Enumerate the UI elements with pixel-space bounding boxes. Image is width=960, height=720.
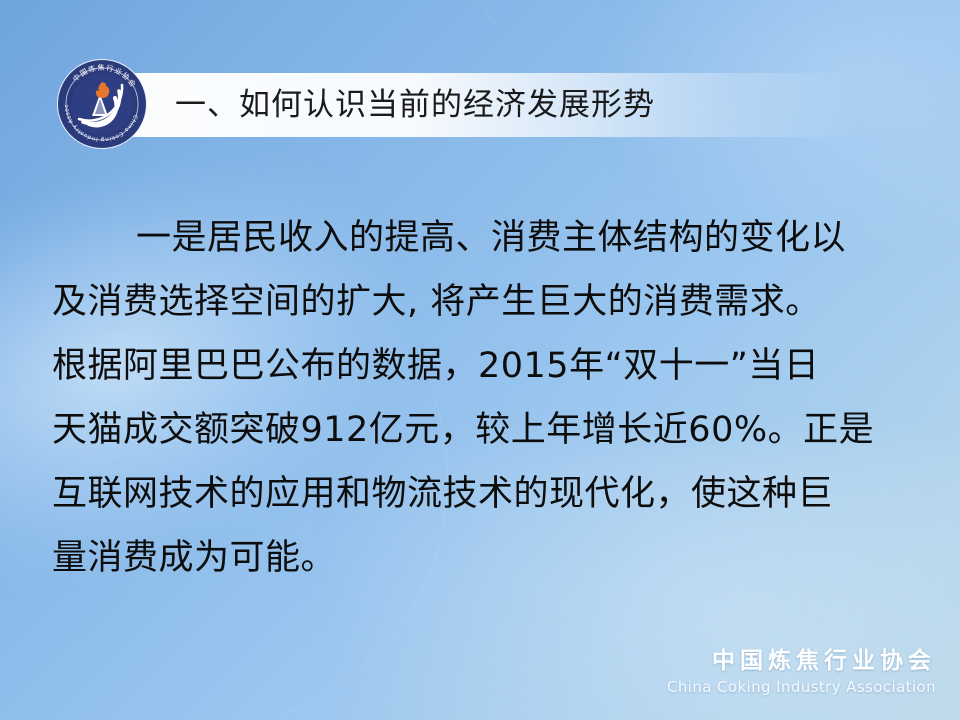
body-line: 及消费选择空间的扩大, 将产生巨大的消费需求。 bbox=[52, 270, 924, 334]
footer-organization-name-cn: 中国炼焦行业协会 bbox=[667, 646, 936, 676]
body-line: 互联网技术的应用和物流技术的现代化，使这种巨 bbox=[52, 462, 924, 526]
body-line: 天猫成交额突破912亿元，较上年增长近60%。正是 bbox=[52, 398, 924, 462]
footer-organization-name-en: China Coking Industry Association bbox=[667, 676, 936, 698]
footer-organization-mark: 中国炼焦行业协会 China Coking Industry Associati… bbox=[667, 646, 936, 698]
association-logo-icon: 中国炼焦行业协会 China Coking Industry Associati… bbox=[56, 58, 148, 150]
body-line: 根据阿里巴巴公布的数据，2015年“双十一”当日 bbox=[52, 334, 924, 398]
body-line: 量消费成为可能。 bbox=[52, 526, 924, 590]
presentation-slide: 中国炼焦行业协会 China Coking Industry Associati… bbox=[0, 0, 960, 720]
body-line: 一是居民收入的提高、消费主体结构的变化以 bbox=[52, 206, 924, 270]
slide-title: 一、如何认识当前的经济发展形势 bbox=[175, 78, 655, 132]
slide-body-text: 一是居民收入的提高、消费主体结构的变化以 及消费选择空间的扩大, 将产生巨大的消… bbox=[52, 206, 924, 590]
